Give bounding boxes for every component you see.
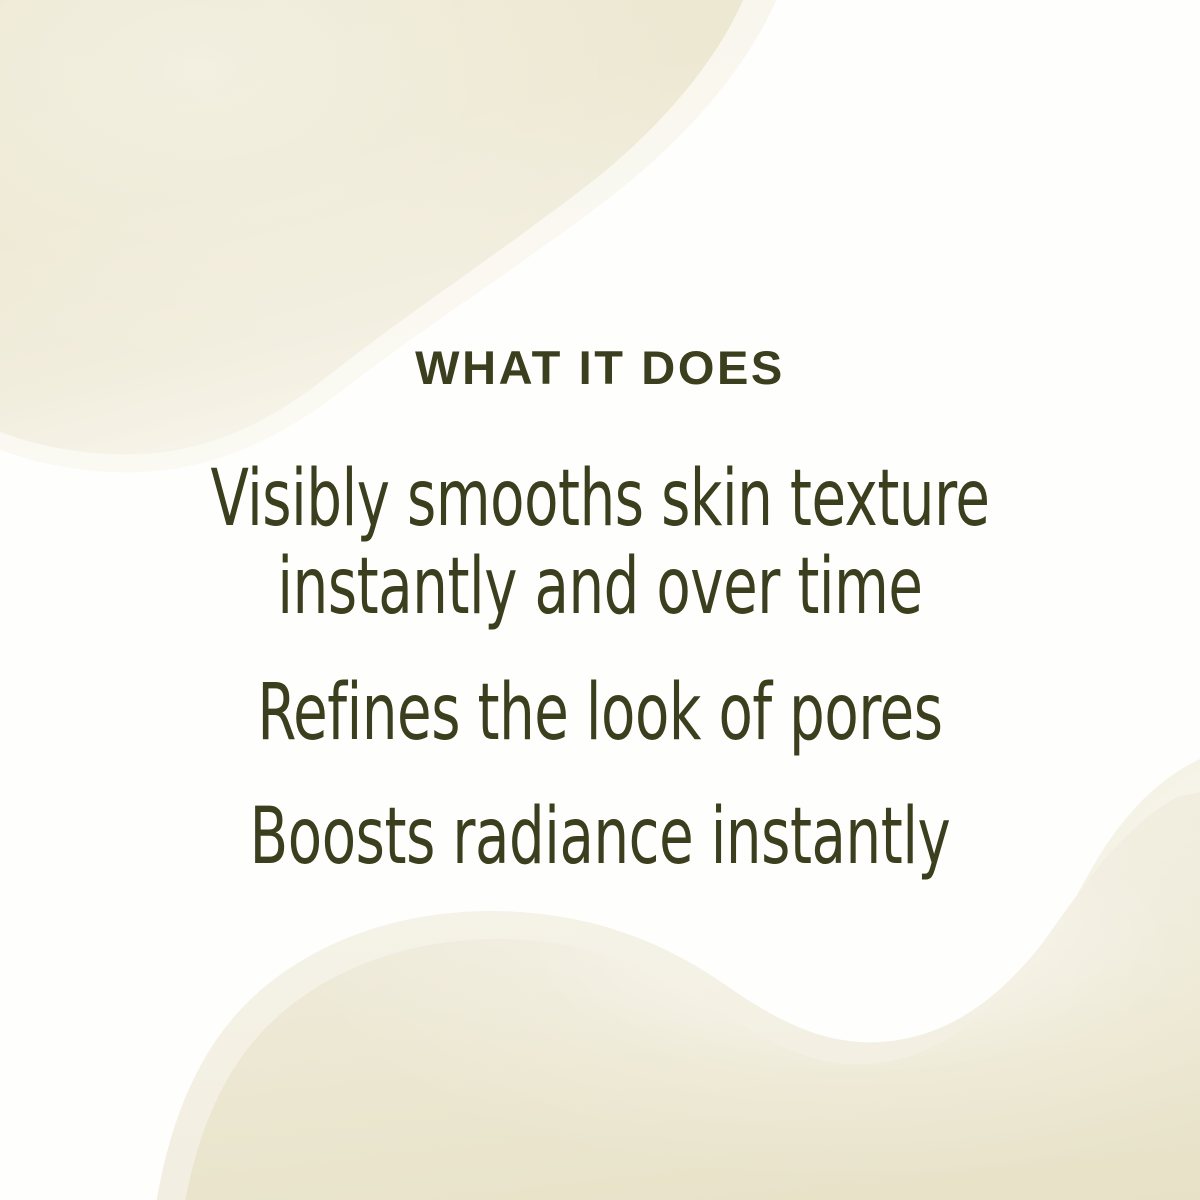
list-item: Boosts radiance instantly <box>120 793 1080 881</box>
list-item: Refines the look of pores <box>120 669 1080 757</box>
page-title: WHAT IT DOES <box>0 339 1200 397</box>
product-benefits-card: WHAT IT DOES Visibly smooths skin textur… <box>0 0 1200 1200</box>
list-item: Visibly smooths skin texture instantly a… <box>120 455 1080 631</box>
content-block: WHAT IT DOES Visibly smooths skin textur… <box>0 0 1200 1200</box>
benefit-list: Visibly smooths skin texture instantly a… <box>0 455 1200 881</box>
